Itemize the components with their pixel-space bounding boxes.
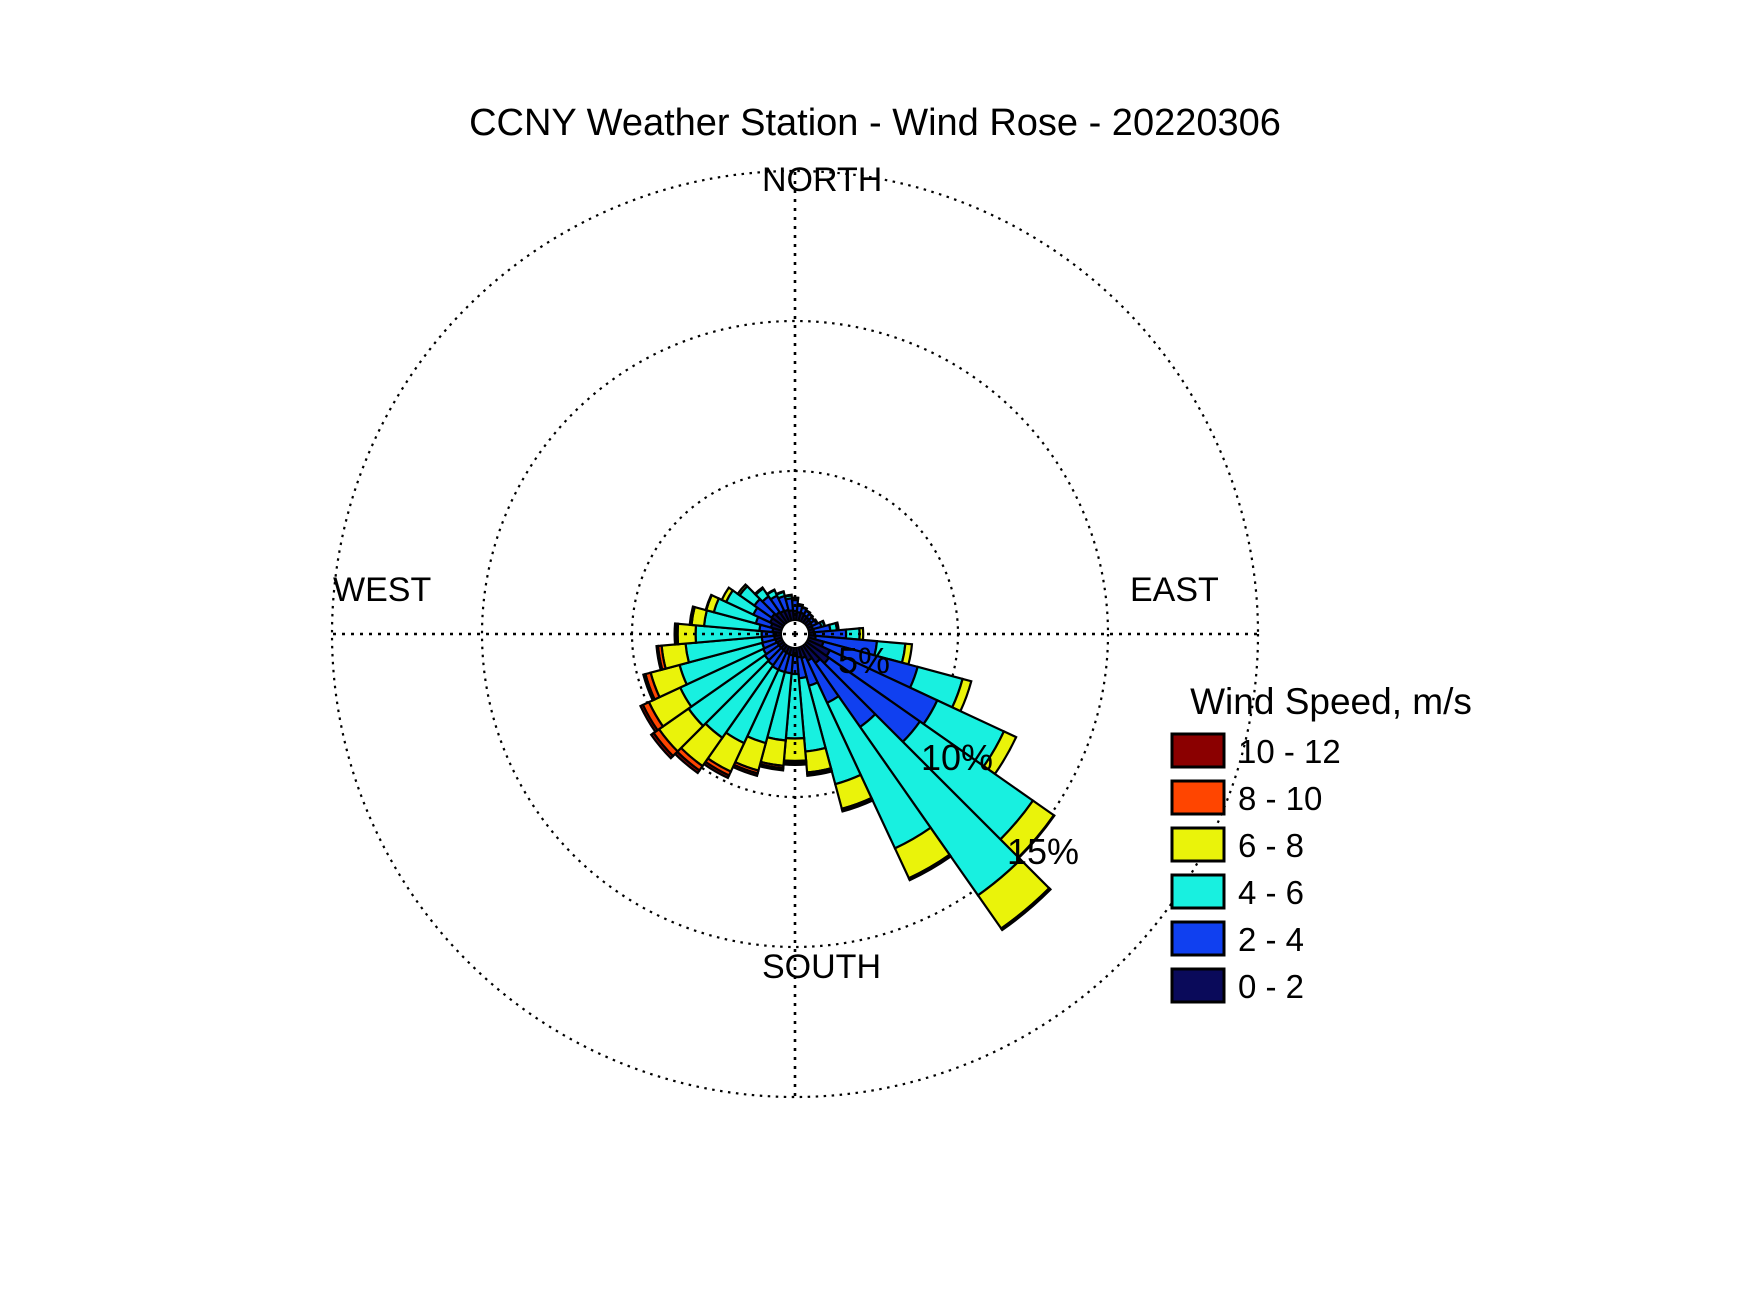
legend-swatch-0-2[interactable] — [1172, 969, 1224, 1002]
legend-label-6-8: 6 - 8 — [1238, 827, 1304, 864]
legend-swatch-2-4[interactable] — [1172, 922, 1224, 955]
legend-label-10-12: 10 - 12 — [1238, 733, 1341, 770]
legend-label-2-4: 2 - 4 — [1238, 921, 1304, 958]
radial-tick-5: 5% — [838, 640, 890, 681]
cardinal-label-north: NORTH — [762, 161, 882, 199]
legend-swatch-10-12[interactable] — [1172, 734, 1224, 767]
chart-title: CCNY Weather Station - Wind Rose - 20220… — [469, 102, 1281, 144]
petal-segment — [785, 595, 792, 597]
wind-rose-svg: CCNY Weather Station - Wind Rose - 20220… — [0, 0, 1750, 1313]
cardinal-label-south: SOUTH — [762, 948, 881, 986]
cardinal-label-west: WEST — [333, 571, 431, 609]
cardinal-label-east: EAST — [1130, 571, 1219, 609]
legend-swatch-4-6[interactable] — [1172, 875, 1224, 908]
legend-swatch-6-8[interactable] — [1172, 828, 1224, 861]
radial-tick-10: 10% — [921, 737, 993, 778]
legend-swatch-8-10[interactable] — [1172, 781, 1224, 814]
legend-label-0-2: 0 - 2 — [1238, 968, 1304, 1005]
legend-label-8-10: 8 - 10 — [1238, 780, 1322, 817]
legend-title: Wind Speed, m/s — [1190, 681, 1472, 722]
legend-label-4-6: 4 - 6 — [1238, 874, 1304, 911]
radial-tick-15: 15% — [1007, 831, 1079, 872]
legend: Wind Speed, m/s 10 - 128 - 106 - 84 - 62… — [1172, 681, 1472, 1005]
petal-segment — [798, 604, 803, 605]
petal-segment — [784, 738, 806, 761]
wind-rose-figure: CCNY Weather Station - Wind Rose - 20220… — [0, 0, 1750, 1313]
petal-segment — [802, 607, 807, 609]
legend-items: 10 - 128 - 106 - 84 - 62 - 40 - 2 — [1172, 733, 1341, 1005]
